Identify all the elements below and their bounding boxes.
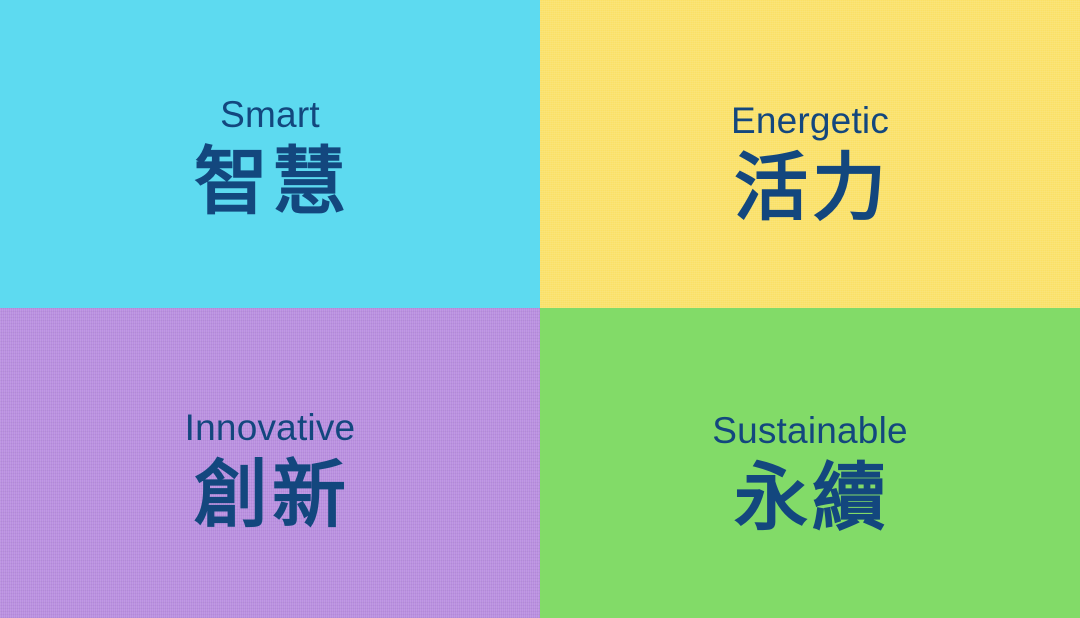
label-stack-energetic: Energetic 活力 bbox=[540, 0, 1080, 227]
quadrant-innovative: Innovative 創新 bbox=[0, 308, 540, 618]
english-label-smart: Smart bbox=[220, 96, 320, 133]
english-label-sustainable: Sustainable bbox=[712, 412, 908, 449]
quadrant-energetic: Energetic 活力 bbox=[540, 0, 1080, 308]
brand-values-poster: Smart 智慧 Energetic 活力 Innovative 創新 Sust… bbox=[0, 0, 1080, 618]
chinese-label-innovative: 創新 bbox=[190, 457, 350, 534]
quadrant-smart: Smart 智慧 bbox=[0, 0, 540, 308]
chinese-label-energetic: 活力 bbox=[730, 150, 890, 227]
chinese-label-smart: 智慧 bbox=[190, 144, 350, 221]
chinese-label-sustainable: 永續 bbox=[730, 460, 890, 537]
label-stack-sustainable: Sustainable 永續 bbox=[540, 308, 1080, 537]
english-label-innovative: Innovative bbox=[185, 409, 356, 446]
quadrant-sustainable: Sustainable 永續 bbox=[540, 308, 1080, 618]
label-stack-innovative: Innovative 創新 bbox=[0, 308, 540, 534]
label-stack-smart: Smart 智慧 bbox=[0, 0, 540, 221]
english-label-energetic: Energetic bbox=[731, 102, 889, 139]
